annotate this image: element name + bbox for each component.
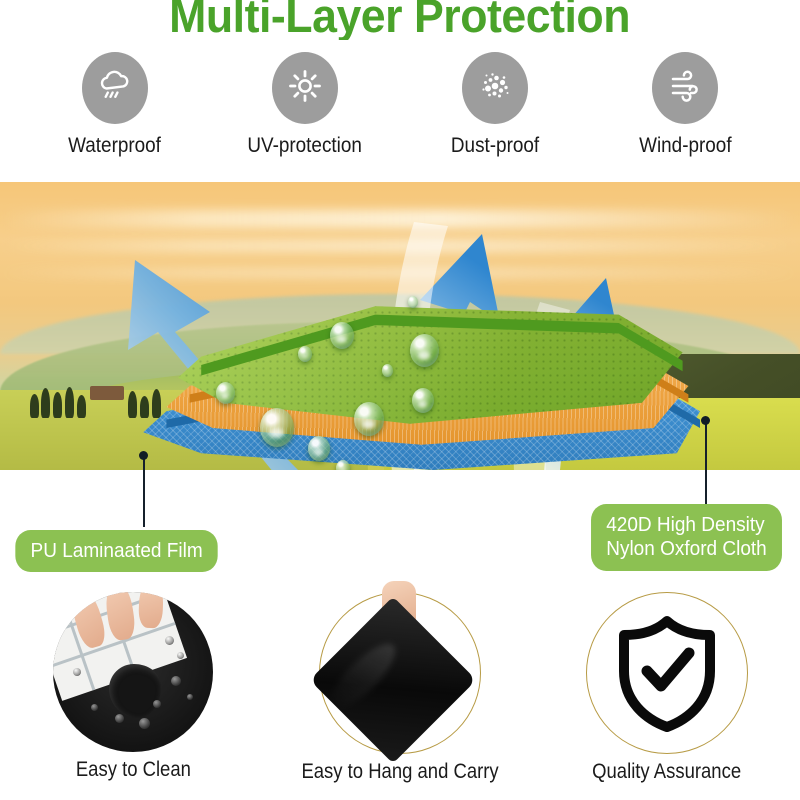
pu-film-callout-text: PU Laminaated Film <box>31 540 203 562</box>
water-droplet <box>336 460 350 470</box>
bottom-feature-caption: Easy to Hang and Carry <box>301 760 498 784</box>
nylon-leader-line <box>705 420 707 504</box>
feature-wind-proof: Wind-proof <box>598 52 773 158</box>
pu-film-callout: PU Laminaated Film <box>15 530 218 572</box>
water-droplet <box>330 322 354 349</box>
feature-label: Wind-proof <box>639 134 731 158</box>
water-droplet <box>412 388 434 413</box>
wind-proof-badge <box>652 52 718 124</box>
water-droplet <box>216 382 235 404</box>
nylon-leader-dot <box>701 416 710 425</box>
water-droplet <box>308 436 330 461</box>
hand-wiping-cloth-photo <box>53 592 213 752</box>
wind-icon <box>664 65 706 112</box>
water-droplet <box>382 364 393 377</box>
water-droplet <box>410 334 439 367</box>
bottom-feature-easy-to-hang: Easy to Hang and Carry <box>272 592 527 784</box>
water-droplet <box>260 408 294 447</box>
layer-stack <box>120 260 700 470</box>
bottom-feature-row: Easy to Clean Easy to Hang and Carry <box>0 592 800 800</box>
feature-uv-protection: UV-protection <box>218 52 393 158</box>
bottom-feature-easy-to-clean: Easy to Clean <box>6 592 261 782</box>
infographic-page: Multi-Layer Protection Waterproof <box>0 0 800 800</box>
feature-label: UV-protection <box>248 134 363 158</box>
quality-assurance-ring <box>586 592 748 754</box>
feature-dust-proof: Dust-proof <box>408 52 583 158</box>
hand-holding-bag-photo <box>319 592 481 754</box>
feature-label: Dust-proof <box>451 134 539 158</box>
cloud-rain-icon <box>95 66 135 111</box>
feature-label: Waterproof <box>69 134 162 158</box>
bottom-feature-caption: Quality Assurance <box>592 760 741 784</box>
protection-feature-row: Waterproof <box>0 52 800 172</box>
nylon-callout-line2: Nylon Oxford Cloth <box>606 537 767 561</box>
dust-proof-badge <box>462 52 528 124</box>
nylon-callout-line1: 420D High Density <box>606 513 767 537</box>
shield-check-icon <box>587 593 747 753</box>
bottom-feature-caption: Easy to Clean <box>76 758 191 782</box>
water-droplet <box>298 346 312 362</box>
fabric-layers-illustration <box>0 182 800 470</box>
page-title: Multi-Layer Protection <box>170 0 631 39</box>
waterproof-badge <box>82 52 148 124</box>
dust-particles-icon <box>475 66 515 111</box>
bag-illustration <box>320 593 480 753</box>
nylon-callout: 420D High Density Nylon Oxford Cloth <box>591 504 782 571</box>
feature-waterproof: Waterproof <box>28 52 203 158</box>
uv-protection-badge <box>272 52 338 124</box>
sun-icon <box>285 66 325 111</box>
title-banner: Multi-Layer Protection <box>0 0 800 40</box>
bottom-feature-quality-assurance: Quality Assurance <box>539 592 794 784</box>
water-droplet <box>354 402 384 436</box>
pu-film-leader-dot <box>139 451 148 460</box>
black-storage-bag <box>310 597 477 764</box>
pu-film-leader-line <box>143 455 145 527</box>
water-droplet <box>408 296 418 308</box>
